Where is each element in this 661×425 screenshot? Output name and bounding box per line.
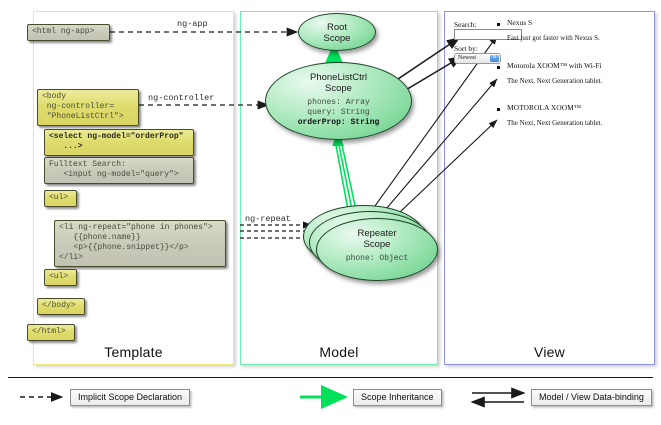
ctrl-scope-prop-query: query: String: [266, 108, 411, 118]
code-box-ul-open: <ul>: [44, 190, 77, 207]
view-phone-snippet: Fast just got faster with Nexus S.: [507, 34, 600, 42]
legend-scope-inheritance-label: Scope Inheritance: [353, 389, 442, 406]
view-phone-snippet: The Next, Next Generation tablet.: [507, 77, 602, 85]
connector-label-ng-controller: ng-controller: [148, 93, 214, 103]
view-sort-label: Sort by:: [454, 44, 478, 53]
view-phone-name: MOTOROLA XOOM™: [507, 103, 581, 112]
view-phone-snippet: The Next, Next Generation tablet.: [507, 119, 602, 127]
repeater-scope-title: Repeater Scope: [317, 229, 437, 251]
ellipse-repeater-scope: Repeater Scope phone: Object: [316, 218, 438, 281]
panel-label-view: View: [445, 344, 654, 360]
code-box-ul-close: <ul>: [44, 269, 77, 286]
ellipse-phonelistctrl-scope: PhoneListCtrl Scope phones: Array query:…: [265, 62, 412, 140]
ctrl-scope-prop-orderprop: orderProp: String: [266, 118, 411, 128]
code-box-html-close: </html>: [27, 324, 75, 341]
chevron-updown-icon[interactable]: ⇅: [490, 55, 499, 62]
ctrl-scope-properties: phones: Array query: String orderProp: S…: [266, 98, 411, 129]
code-box-li-repeat: <li ng-repeat="phone in phones"> {{phone…: [54, 220, 226, 267]
view-sort-select[interactable]: Newest ⇅: [454, 53, 501, 64]
legend-implicit-scope-label: Implicit Scope Declaration: [70, 389, 190, 406]
angularjs-scope-diagram: Template Model View: [0, 0, 661, 425]
panel-label-template: Template: [34, 344, 233, 360]
list-bullet-icon: [497, 108, 500, 111]
ellipse-root-scope: Root Scope: [298, 13, 376, 51]
code-box-body-tag: <body ng-controller= "PhoneListCtrl">: [37, 89, 139, 126]
code-box-select-tag: <select ng-model="orderProp" ...>: [44, 129, 194, 156]
code-box-html-tag: <html ng-app>: [27, 24, 110, 41]
view-phone-name: Nexus S: [507, 18, 532, 27]
view-sort-selected-value: Newest: [458, 55, 476, 61]
view-search-label: Search:: [454, 20, 477, 29]
list-bullet-icon: [497, 66, 500, 69]
legend-divider: [8, 377, 653, 378]
code-box-search-input: Fulltext Search: <input ng-model="query"…: [44, 157, 194, 184]
legend-data-binding-label: Model / View Data-binding: [531, 389, 652, 406]
view-phone-name: Motorola XOOM™ with Wi-Fi: [507, 61, 602, 70]
code-box-body-close: </body>: [37, 298, 85, 315]
list-bullet-icon: [497, 23, 500, 26]
connector-label-ng-repeat: ng-repeat: [245, 214, 291, 224]
root-scope-title: Root Scope: [299, 23, 375, 45]
ctrl-scope-title: PhoneListCtrl Scope: [266, 73, 411, 95]
connector-label-ng-app: ng-app: [177, 19, 208, 29]
repeater-scope-properties: phone: Object: [317, 254, 437, 264]
ctrl-scope-prop-phones: phones: Array: [266, 98, 411, 108]
panel-label-model: Model: [241, 344, 437, 360]
repeater-scope-prop-phone: phone: Object: [317, 254, 437, 264]
